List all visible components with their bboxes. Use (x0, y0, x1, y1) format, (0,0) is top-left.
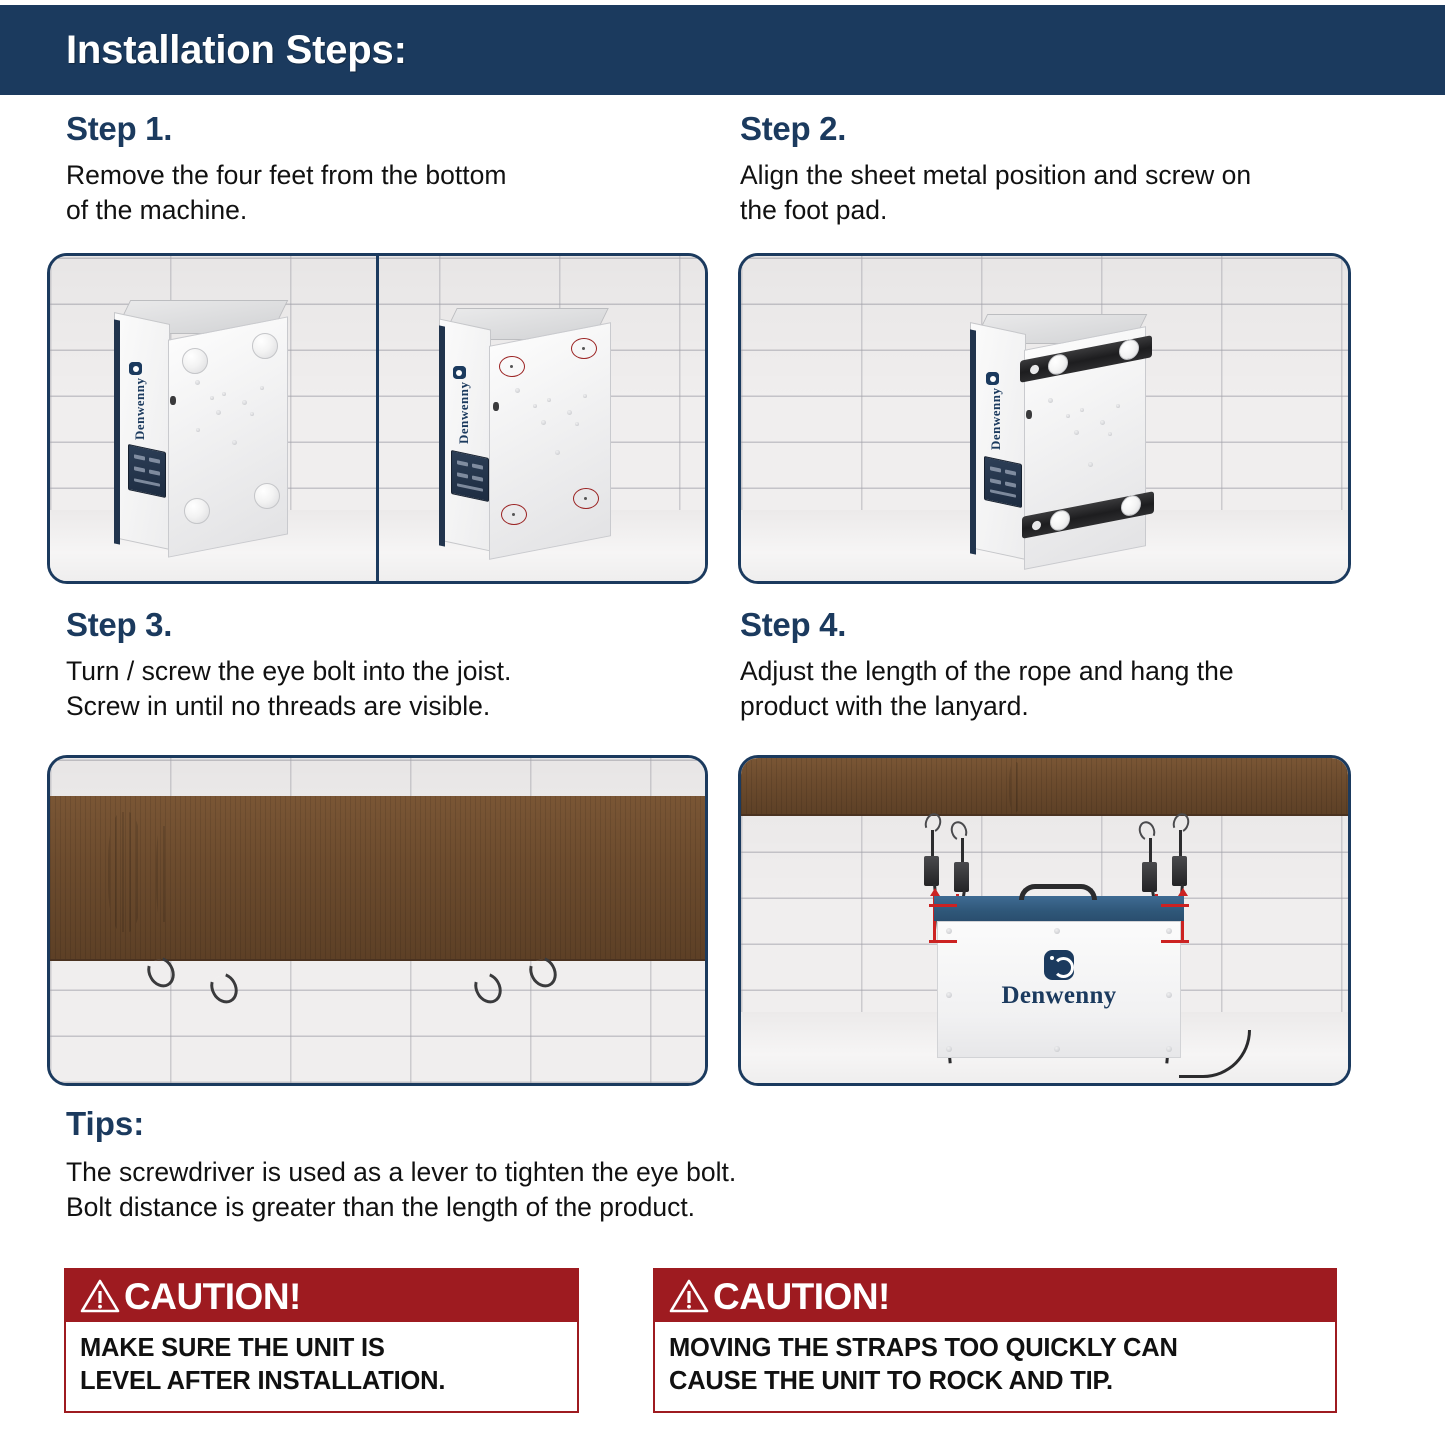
unit-screw (533, 404, 537, 408)
unit-screw (555, 450, 560, 455)
unit-navy-edge (970, 329, 976, 554)
hanger-rope (1179, 830, 1182, 858)
step-3-description: Turn / screw the eye bolt into the joist… (66, 654, 706, 724)
mounting-hole-marker (573, 488, 599, 509)
unit-screw (493, 402, 499, 411)
warning-triangle-icon (669, 1278, 709, 1314)
unit-screw (946, 928, 952, 934)
caution-header-bar: CAUTION! (655, 1270, 1335, 1322)
caution-text: MOVING THE STRAPS TOO QUICKLY CAN CAUSE … (655, 1322, 1335, 1409)
unit-screw (1100, 420, 1105, 425)
step-4-block: Step 4. Adjust the length of the rope an… (740, 606, 1380, 724)
hung-unit-body: Denwenny (937, 921, 1181, 1058)
brand-text-vertical: Denwenny (132, 368, 148, 440)
unit-screw (1054, 928, 1060, 934)
rubber-foot (252, 333, 278, 359)
foot-pad (1119, 338, 1139, 362)
level-reference-line (1161, 904, 1189, 907)
unit-screw (195, 380, 200, 385)
unit-screw (547, 398, 551, 402)
rubber-foot (184, 498, 210, 524)
step-3-image (47, 755, 708, 1086)
tips-body: The screwdriver is used as a lever to ti… (66, 1155, 736, 1225)
level-reference-line (929, 904, 957, 907)
caution-box-straps: CAUTION! MOVING THE STRAPS TOO QUICKLY C… (653, 1268, 1337, 1413)
level-reference-line (929, 940, 957, 943)
mounting-hole-marker (501, 504, 527, 525)
unit-screw (170, 396, 176, 405)
unit-screw (1026, 410, 1032, 419)
eye-bolt (472, 970, 498, 1006)
unit-control-panel (128, 444, 166, 498)
caution-label: CAUTION! (713, 1278, 890, 1315)
unit-screw (515, 388, 520, 393)
step-2-title: Step 2. (740, 110, 1380, 148)
step-2-block: Step 2. Align the sheet metal position a… (740, 110, 1380, 228)
unit-screw (196, 428, 200, 432)
rope-ratchet (954, 862, 969, 892)
mounting-hole-marker (571, 338, 597, 359)
rope-ratchet (924, 856, 939, 886)
foot-pad (1050, 508, 1070, 532)
unit-carry-handle (1019, 884, 1097, 900)
brand-logo-icon (453, 366, 466, 379)
wood-knot (1009, 762, 1021, 812)
hanger-rope (1149, 838, 1152, 864)
wood-knot (108, 812, 142, 932)
unit-screw (567, 410, 572, 415)
step-3-block: Step 3. Turn / screw the eye bolt into t… (66, 606, 706, 724)
rope-ratchet (1142, 862, 1157, 892)
dehumidifier-unit-feet-off: Denwenny (437, 308, 627, 553)
step-3-title: Step 3. (66, 606, 706, 644)
mounting-hole-marker (499, 356, 525, 377)
unit-screw (216, 410, 221, 415)
unit-screw (250, 412, 254, 416)
tips-block: Tips: The screwdriver is used as a lever… (66, 1105, 736, 1225)
warning-triangle-icon (80, 1278, 120, 1314)
rubber-foot (182, 348, 208, 374)
brand-text-vertical: Denwenny (456, 372, 472, 444)
unit-screw (242, 400, 247, 405)
bracket-slot (1032, 520, 1041, 531)
step-4-description: Adjust the length of the rope and hang t… (740, 654, 1380, 724)
bracket-slot (1030, 364, 1039, 375)
unit-control-panel (451, 450, 489, 502)
brand-logo-icon (129, 362, 142, 375)
unit-screw (946, 992, 952, 998)
unit-screw (541, 420, 546, 425)
unit-screw (1166, 928, 1172, 934)
unit-screw (946, 1046, 952, 1052)
step-2-description: Align the sheet metal position and screw… (740, 158, 1380, 228)
wooden-joist (741, 758, 1348, 816)
brand-logo-icon (986, 372, 999, 385)
unit-screw (1080, 408, 1084, 412)
brand-logo-block: Denwenny (938, 950, 1180, 1010)
tips-title: Tips: (66, 1105, 736, 1143)
hanger-rope (931, 830, 934, 858)
unit-screw (1116, 404, 1120, 408)
unit-screw (1054, 1046, 1060, 1052)
step-1-title: Step 1. (66, 110, 686, 148)
unit-screw (232, 440, 237, 445)
unit-screw (210, 396, 214, 400)
step-4-title: Step 4. (740, 606, 1380, 644)
unit-screw (222, 392, 226, 396)
tips-title-word: Tips (66, 1105, 133, 1142)
brand-logo-icon (1044, 950, 1074, 980)
page-header-band: Installation Steps: (0, 5, 1445, 95)
unit-screw (260, 386, 264, 390)
eye-bolt (145, 954, 171, 990)
unit-screw (1108, 432, 1112, 436)
caution-box-level: CAUTION! MAKE SURE THE UNIT IS LEVEL AFT… (64, 1268, 579, 1413)
hanger-rope (961, 838, 964, 864)
unit-screw (1074, 430, 1079, 435)
dehumidifier-unit-feet-on: Denwenny (110, 300, 300, 545)
rope-ratchet (1172, 856, 1187, 886)
unit-navy-edge (439, 325, 445, 546)
brand-name-text: Denwenny (938, 982, 1180, 1010)
page-title: Installation Steps: (66, 28, 407, 73)
step-1-photo-feet-off: Denwenny (379, 256, 705, 581)
eye-bolt (527, 954, 553, 990)
step-1-description: Remove the four feet from the bottom of … (66, 158, 686, 228)
brand-text-vertical: Denwenny (988, 378, 1004, 450)
step-2-image: Denwenny (738, 253, 1351, 584)
tips-title-colon: : (133, 1105, 144, 1142)
unit-screw (1088, 462, 1093, 467)
unit-navy-edge (114, 319, 120, 544)
unit-screw (1048, 398, 1053, 403)
unit-screw (1166, 992, 1172, 998)
caution-text: MAKE SURE THE UNIT IS LEVEL AFTER INSTAL… (66, 1322, 577, 1409)
wooden-joist (50, 796, 705, 961)
caution-header-bar: CAUTION! (66, 1270, 577, 1322)
caution-label: CAUTION! (124, 1278, 301, 1315)
wood-knot (156, 826, 170, 922)
unit-screw (1166, 1046, 1172, 1052)
step-4-image: Denwenny (738, 755, 1351, 1086)
step-1-image: Denwenny (47, 253, 708, 584)
eye-bolt (208, 970, 234, 1006)
unit-screw (575, 422, 579, 426)
level-reference-line (1161, 940, 1189, 943)
unit-control-panel (984, 456, 1022, 508)
rubber-foot (254, 483, 280, 509)
step-1-block: Step 1. Remove the four feet from the bo… (66, 110, 686, 228)
foot-pad (1048, 352, 1068, 376)
foot-pad (1121, 494, 1141, 518)
dehumidifier-unit-with-brackets: Denwenny (966, 314, 1166, 564)
step-1-photo-feet-on: Denwenny (50, 256, 376, 581)
unit-screw (583, 394, 587, 398)
unit-screw (1066, 414, 1070, 418)
